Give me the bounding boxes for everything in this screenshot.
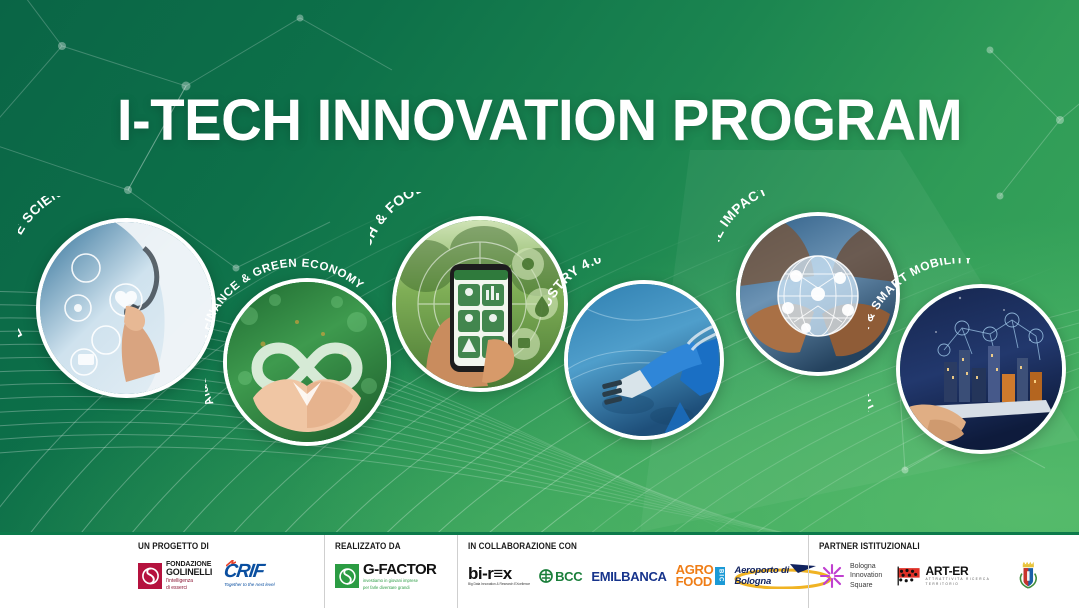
logo-art-er[interactable]: ART-ER ATTRATTIVITA RICERCA TERRITORIO (896, 563, 1004, 589)
footer-heading-in-collaborazione-con: IN COLLABORAZIONE CON (468, 541, 765, 551)
logo-bologna-innovation-square[interactable]: Bologna Innovation Square (819, 562, 882, 590)
g-factor-wordmark: G-FACTOR investiamo in giovani imprese p… (363, 562, 436, 590)
golinelli-wordmark: FONDAZIONE GOLINELLI l'intelligenza di e… (166, 561, 212, 591)
logo-aeroporto-di-bologna[interactable]: Aeroporto di Bologna (734, 563, 798, 589)
photo-smart-city (900, 288, 1062, 450)
g-factor-tagline2: per farle diventare grandi (363, 585, 436, 590)
golinelli-line2: GOLINELLI (166, 568, 212, 577)
photo-doctor-tech (40, 222, 212, 394)
crif-tagline: Together to the next level (224, 582, 290, 587)
theme-card-traveltech-mobility[interactable]: TRAVELTECH & SMART MOBILITY (868, 258, 1068, 458)
bcc-wordmark: BCC (555, 569, 582, 584)
bcc-emblem-icon (539, 569, 553, 583)
logo-bi-rex[interactable]: bi-r≡x Big Data Innovation & Research EX… (468, 565, 530, 586)
bis-line1: Bologna (850, 562, 882, 571)
golinelli-swirl-icon (142, 567, 159, 585)
theme-card-edtech-life-science[interactable]: EDTECH IN LIFE SCIENCE (18, 196, 218, 396)
crif-wordmark: CRIF (223, 562, 292, 581)
footer-left-spacer (0, 535, 128, 608)
art-er-tagline: ATTRATTIVITA RICERCA TERRITORIO (925, 577, 1004, 587)
logo-emilbanca[interactable]: EMILBANCA (591, 569, 666, 584)
logo-comune-di-bologna[interactable] (1018, 559, 1039, 593)
bis-wordmark: Bologna Innovation Square (850, 562, 882, 590)
theme-image-agritech-foodtech (392, 216, 568, 392)
footer-group-partner-istituzionali: PARTNER ISTITUZIONALI Bologna Innovation (808, 535, 1049, 608)
bis-line2: Innovation (850, 571, 882, 580)
photo-phone-farm (396, 220, 564, 388)
art-er-wordmark: ART-ER ATTRATTIVITA RICERCA TERRITORIO (925, 565, 1004, 587)
theme-image-edtech-life-science (36, 218, 216, 398)
bis-starburst-icon (819, 563, 845, 589)
footer-group-in-collaborazione-con: IN COLLABORAZIONE CON bi-r≡x Big Data In… (457, 535, 808, 608)
g-factor-word: G-FACTOR (363, 562, 436, 577)
page-title: I-TECH INNOVATION PROGRAM (16, 92, 1063, 150)
g-factor-tagline1: investiamo in giovani imprese (363, 578, 436, 583)
theme-card-industry-40[interactable]: INDUSTRY 4.0 (548, 258, 728, 438)
golinelli-mark-icon (138, 563, 162, 589)
photo-robot-arm (568, 284, 720, 436)
logo-fondazione-golinelli[interactable]: FONDAZIONE GOLINELLI l'intelligenza di e… (138, 561, 212, 591)
bi-rex-tagline: Big Data Innovation & Research EXcellenc… (468, 583, 530, 586)
agrofood-wordmark: AGRO FOOD (676, 564, 714, 589)
footer-group-realizzato-da: REALIZZATO DA G-FACTOR investiamo in gio… (324, 535, 457, 608)
theme-card-ai-data-finance[interactable]: AI&DATA IN FINANCE & GREEN ECONOMY (205, 258, 395, 448)
logo-crif[interactable]: CRIF Together to the next level (224, 562, 290, 590)
g-factor-mark-icon (335, 564, 359, 588)
art-er-flag-icon (896, 563, 921, 589)
comune-shield-icon (1024, 568, 1034, 586)
footer-heading-un-progetto-di: UN PROGETTO DI (138, 541, 296, 551)
comune-crown-icon (1023, 562, 1034, 568)
footer-heading-realizzato-da: REALIZZATO DA (335, 541, 436, 551)
footer-group-un-progetto-di: UN PROGETTO DI FONDAZIONE GOLINELLI l'in… (128, 535, 324, 608)
art-er-word: ART-ER (925, 565, 1004, 577)
theme-image-ai-data-finance (223, 278, 391, 446)
agrofood-line2: FOOD (676, 576, 714, 588)
photo-hands-infinity (227, 282, 387, 442)
theme-image-traveltech-mobility (896, 284, 1066, 454)
agrofood-bic-badge: BIC (715, 567, 725, 584)
theme-image-industry-40 (564, 280, 724, 440)
golinelli-tagline1: l'intelligenza (166, 578, 212, 584)
logo-g-factor[interactable]: G-FACTOR investiamo in giovani imprese p… (335, 562, 436, 590)
logo-bcc[interactable]: BCC (539, 569, 582, 584)
theme-card-agritech-foodtech[interactable]: AGRITECH & FOODTECH (370, 192, 570, 392)
poster-canvas: I-TECH INNOVATION PROGRAM (0, 0, 1079, 608)
g-factor-swirl-icon (339, 568, 356, 585)
bis-line3: Square (850, 581, 882, 590)
logo-agrofood-bic[interactable]: AGRO FOOD BIC (676, 564, 726, 589)
golinelli-tagline2: di esserci (166, 585, 212, 591)
sponsor-footer: UN PROGETTO DI FONDAZIONE GOLINELLI l'in… (0, 532, 1079, 608)
aeroporto-wordmark: Aeroporto di Bologna (734, 565, 798, 587)
footer-heading-partner-istituzionali: PARTNER ISTITUZIONALI (819, 541, 1017, 551)
bi-rex-wordmark: bi-r≡x (468, 565, 530, 582)
hero-banner: I-TECH INNOVATION PROGRAM (0, 0, 1079, 532)
